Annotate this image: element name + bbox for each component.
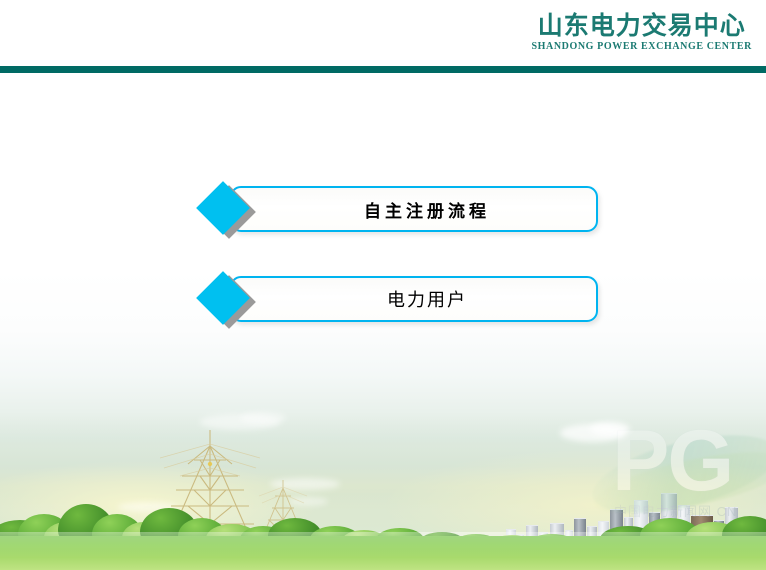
diamond-shape [196,271,250,325]
topic-label: 自主注册流程 [338,197,490,222]
topic-box-registration[interactable]: 自主注册流程 [230,186,598,232]
brand-name-cn: 山东电力交易中心 [531,13,752,38]
content-row-1[interactable]: 自主注册流程 [194,186,598,234]
content-row-2[interactable]: 电力用户 [194,276,598,324]
header-divider [0,66,766,73]
topic-label: 电力用户 [361,286,467,312]
slide: PG 中国电力新闻网 CN 山东电力交易中心 SHANDONG POWER EX… [0,0,766,570]
diamond-bullet-icon [194,182,256,244]
diamond-shape [196,181,250,235]
topic-box-power-user[interactable]: 电力用户 [230,276,598,322]
slide-header: 山东电力交易中心 SHANDONG POWER EXCHANGE CENTER [0,0,766,73]
diamond-bullet-icon [194,272,256,334]
brand-logo: 山东电力交易中心 SHANDONG POWER EXCHANGE CENTER [531,13,752,52]
brand-name-en: SHANDONG POWER EXCHANGE CENTER [531,42,752,52]
slide-content: 自主注册流程 电力用户 [0,73,766,570]
